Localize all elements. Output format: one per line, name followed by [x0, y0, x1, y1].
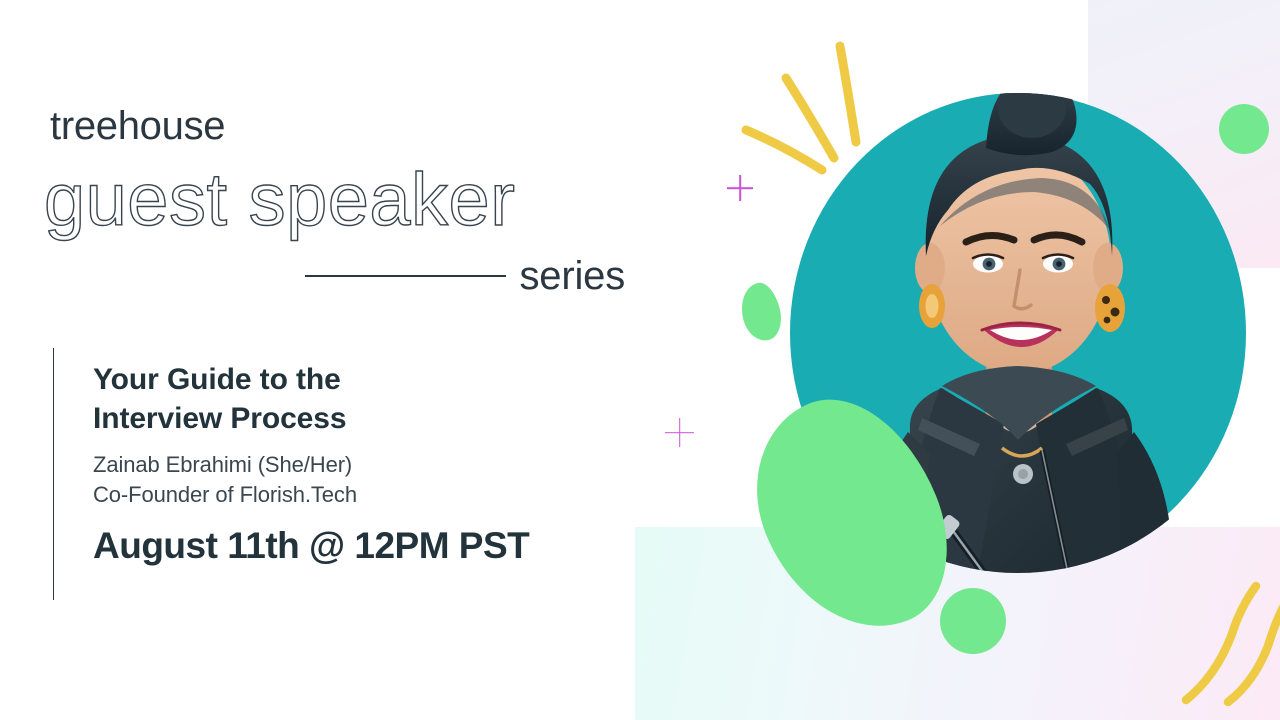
series-divider	[305, 275, 506, 277]
speaker-info: Zainab Ebrahimi (She/Her) Co-Founder of …	[93, 450, 529, 510]
event-datetime: August 11th @ 12PM PST	[93, 525, 529, 567]
yellow-swash-icon	[1160, 580, 1280, 720]
speaker-role: Co-Founder of Florish.Tech	[93, 480, 529, 510]
green-circle-shape	[940, 588, 1006, 654]
speaker-name: Zainab Ebrahimi (She/Her)	[93, 450, 529, 480]
plus-mark-icon	[727, 175, 753, 201]
talk-title: Your Guide to the Interview Process	[93, 360, 529, 438]
promo-graphic: treehouse guest speaker series Your Guid…	[0, 0, 1280, 720]
series-label: series	[520, 256, 626, 296]
headline-outline: guest speaker	[44, 163, 515, 237]
event-details: Your Guide to the Interview Process Zain…	[53, 348, 529, 600]
green-circle-shape-topright	[1219, 104, 1269, 154]
series-row: series	[305, 256, 625, 296]
plus-mark-icon	[665, 418, 694, 447]
brand-wordmark: treehouse	[50, 106, 225, 146]
yellow-sparkle-icon	[740, 30, 900, 180]
green-blob-small-shape	[736, 279, 787, 344]
